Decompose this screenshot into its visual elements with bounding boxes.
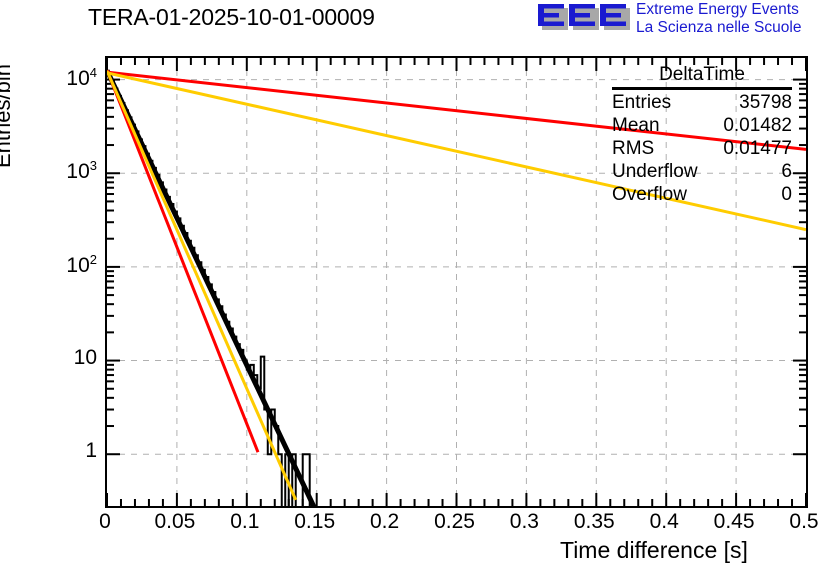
eee-logo-icon — [538, 3, 630, 33]
stats-key: RMS — [612, 137, 654, 160]
x-tick-label: 0.5 — [789, 510, 818, 534]
x-tick-label: 0.35 — [574, 510, 615, 534]
fit-line-black — [107, 71, 333, 506]
eee-logo-block: Extreme Energy Events La Scienza nelle S… — [538, 1, 834, 37]
stats-row: Mean0.01482 — [612, 114, 792, 137]
stats-key: Overflow — [612, 183, 687, 206]
eee-logo-text: Extreme Energy Events La Scienza nelle S… — [636, 1, 801, 36]
x-tick-label: 0.25 — [434, 510, 475, 534]
stats-value: 0.01482 — [723, 114, 792, 137]
stats-rows: Entries35798Mean0.01482RMS0.01477Underfl… — [612, 91, 792, 206]
x-tick-label: 0.4 — [650, 510, 679, 534]
x-tick-label: 0.15 — [294, 510, 335, 534]
stats-row: RMS0.01477 — [612, 137, 792, 160]
reference-line-red-steep — [107, 70, 258, 452]
reference-line-orange-steep — [107, 71, 296, 500]
plot-canvas: TERA-01-2025-10-01-00009 — [0, 0, 836, 572]
page-title: TERA-01-2025-10-01-00009 — [88, 4, 375, 31]
y-tick-label: 104 — [1, 66, 97, 89]
eee-logo-line2: La Scienza nelle Scuole — [636, 19, 801, 37]
eee-logo-line1: Extreme Energy Events — [636, 1, 799, 18]
y-tick-label: 1 — [1, 440, 97, 461]
histogram-outline — [107, 74, 352, 506]
stats-key: Underflow — [612, 160, 698, 183]
stats-key: Entries — [612, 91, 671, 114]
y-tick-label: 102 — [1, 253, 97, 276]
x-tick-label: 0.45 — [714, 510, 755, 534]
stats-row: Underflow6 — [612, 160, 792, 183]
stats-key: Mean — [612, 114, 660, 137]
x-tick-label: 0.05 — [154, 510, 195, 534]
stats-value: 35798 — [739, 91, 792, 114]
stats-value: 0 — [781, 183, 792, 206]
x-axis-title: Time difference [s] — [560, 537, 748, 564]
x-tick-label: 0.3 — [510, 510, 539, 534]
stats-row: Overflow0 — [612, 183, 792, 206]
y-tick-label: 103 — [1, 159, 97, 182]
x-tick-label: 0.1 — [230, 510, 259, 534]
stats-title: DeltaTime — [612, 64, 792, 90]
y-tick-label: 10 — [1, 347, 97, 368]
stats-row: Entries35798 — [612, 91, 792, 114]
stats-value: 6 — [781, 160, 792, 183]
stats-box: DeltaTime Entries35798Mean0.01482RMS0.01… — [612, 64, 792, 206]
stats-value: 0.01477 — [723, 137, 792, 160]
x-tick-label: 0 — [99, 510, 111, 534]
x-tick-label: 0.2 — [370, 510, 399, 534]
